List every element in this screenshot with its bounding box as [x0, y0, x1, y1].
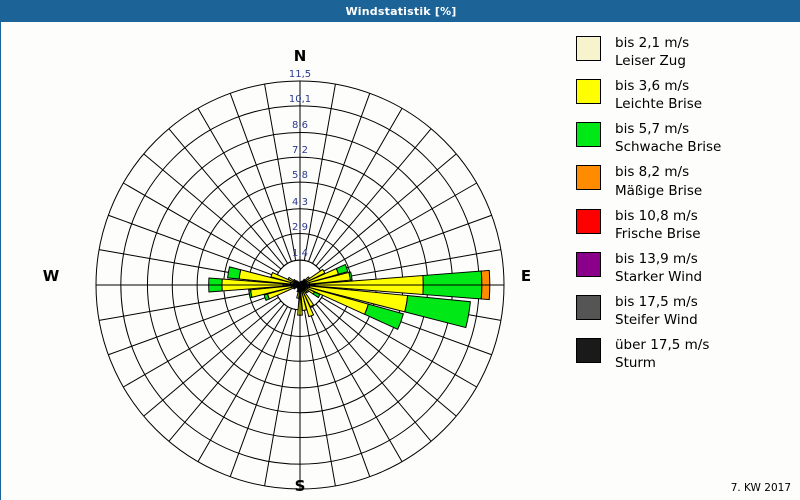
legend-color-swatch	[576, 36, 601, 61]
legend-item: bis 10,8 m/sFrische Brise	[576, 207, 791, 243]
legend-text: über 17,5 m/sSturm	[615, 336, 709, 372]
legend-color-swatch	[576, 122, 601, 147]
legend-item: bis 17,5 m/sSteifer Wind	[576, 293, 791, 329]
windstatistik-window: Windstatistik [%] 1,42,94,35,87,28,610,1…	[0, 0, 800, 500]
window-title-bar: Windstatistik [%]	[1, 1, 800, 22]
radial-tick-label: 5,8	[280, 170, 320, 181]
radial-tick-label: 10,1	[280, 94, 320, 105]
footer-period: 7. KW 2017	[731, 482, 791, 494]
legend-speed-range: bis 10,8 m/s	[615, 207, 701, 225]
legend-speed-range: bis 8,2 m/s	[615, 163, 702, 181]
polar-axis-lines	[96, 81, 504, 489]
window-title: Windstatistik [%]	[345, 5, 456, 18]
legend-beaufort-name: Steifer Wind	[615, 311, 698, 329]
legend-item: bis 5,7 m/sSchwache Brise	[576, 120, 791, 156]
compass-label-north: N	[270, 47, 330, 65]
radial-tick-label: 11,5	[280, 69, 320, 80]
compass-label-east: E	[506, 267, 546, 285]
wind-rose-segment	[405, 296, 471, 328]
legend-speed-range: bis 13,9 m/s	[615, 250, 702, 268]
legend-text: bis 13,9 m/sStarker Wind	[615, 250, 702, 286]
radial-tick-label: 8,6	[280, 120, 320, 131]
window-content: 1,42,94,35,87,28,610,111,5 N S W E bis 2…	[1, 22, 800, 500]
legend-beaufort-name: Starker Wind	[615, 268, 702, 286]
legend-item: bis 3,6 m/sLeichte Brise	[576, 77, 791, 113]
compass-label-south: S	[270, 477, 330, 495]
legend-beaufort-name: Frische Brise	[615, 225, 701, 243]
legend-item: bis 2,1 m/sLeiser Zug	[576, 34, 791, 70]
wind-speed-legend: bis 2,1 m/sLeiser Zugbis 3,6 m/sLeichte …	[576, 34, 791, 379]
legend-speed-range: bis 17,5 m/s	[615, 293, 698, 311]
legend-speed-range: bis 3,6 m/s	[615, 77, 702, 95]
legend-text: bis 2,1 m/sLeiser Zug	[615, 34, 689, 70]
legend-text: bis 17,5 m/sSteifer Wind	[615, 293, 698, 329]
legend-text: bis 10,8 m/sFrische Brise	[615, 207, 701, 243]
legend-color-swatch	[576, 295, 601, 320]
legend-color-swatch	[576, 79, 601, 104]
legend-speed-range: über 17,5 m/s	[615, 336, 709, 354]
legend-beaufort-name: Schwache Brise	[615, 138, 721, 156]
legend-item: über 17,5 m/sSturm	[576, 336, 791, 372]
legend-text: bis 8,2 m/sMäßige Brise	[615, 163, 702, 199]
legend-beaufort-name: Leiser Zug	[615, 52, 689, 70]
legend-color-swatch	[576, 209, 601, 234]
compass-label-west: W	[31, 267, 71, 285]
wind-rose-bars	[209, 264, 490, 329]
legend-item: bis 13,9 m/sStarker Wind	[576, 250, 791, 286]
legend-beaufort-name: Sturm	[615, 354, 709, 372]
radial-tick-label: 4,3	[280, 197, 320, 208]
legend-color-swatch	[576, 338, 601, 363]
legend-speed-range: bis 5,7 m/s	[615, 120, 721, 138]
legend-speed-range: bis 2,1 m/s	[615, 34, 689, 52]
radial-tick-label: 1,4	[280, 248, 320, 259]
legend-beaufort-name: Mäßige Brise	[615, 182, 702, 200]
legend-color-swatch	[576, 252, 601, 277]
legend-text: bis 5,7 m/sSchwache Brise	[615, 120, 721, 156]
wind-rose-segment	[228, 267, 241, 279]
legend-text: bis 3,6 m/sLeichte Brise	[615, 77, 702, 113]
legend-color-swatch	[576, 165, 601, 190]
legend-beaufort-name: Leichte Brise	[615, 95, 702, 113]
legend-item: bis 8,2 m/sMäßige Brise	[576, 163, 791, 199]
wind-rose-chart: 1,42,94,35,87,28,610,111,5 N S W E	[1, 22, 561, 500]
radial-tick-label: 7,2	[280, 145, 320, 156]
radial-tick-label: 2,9	[280, 222, 320, 233]
